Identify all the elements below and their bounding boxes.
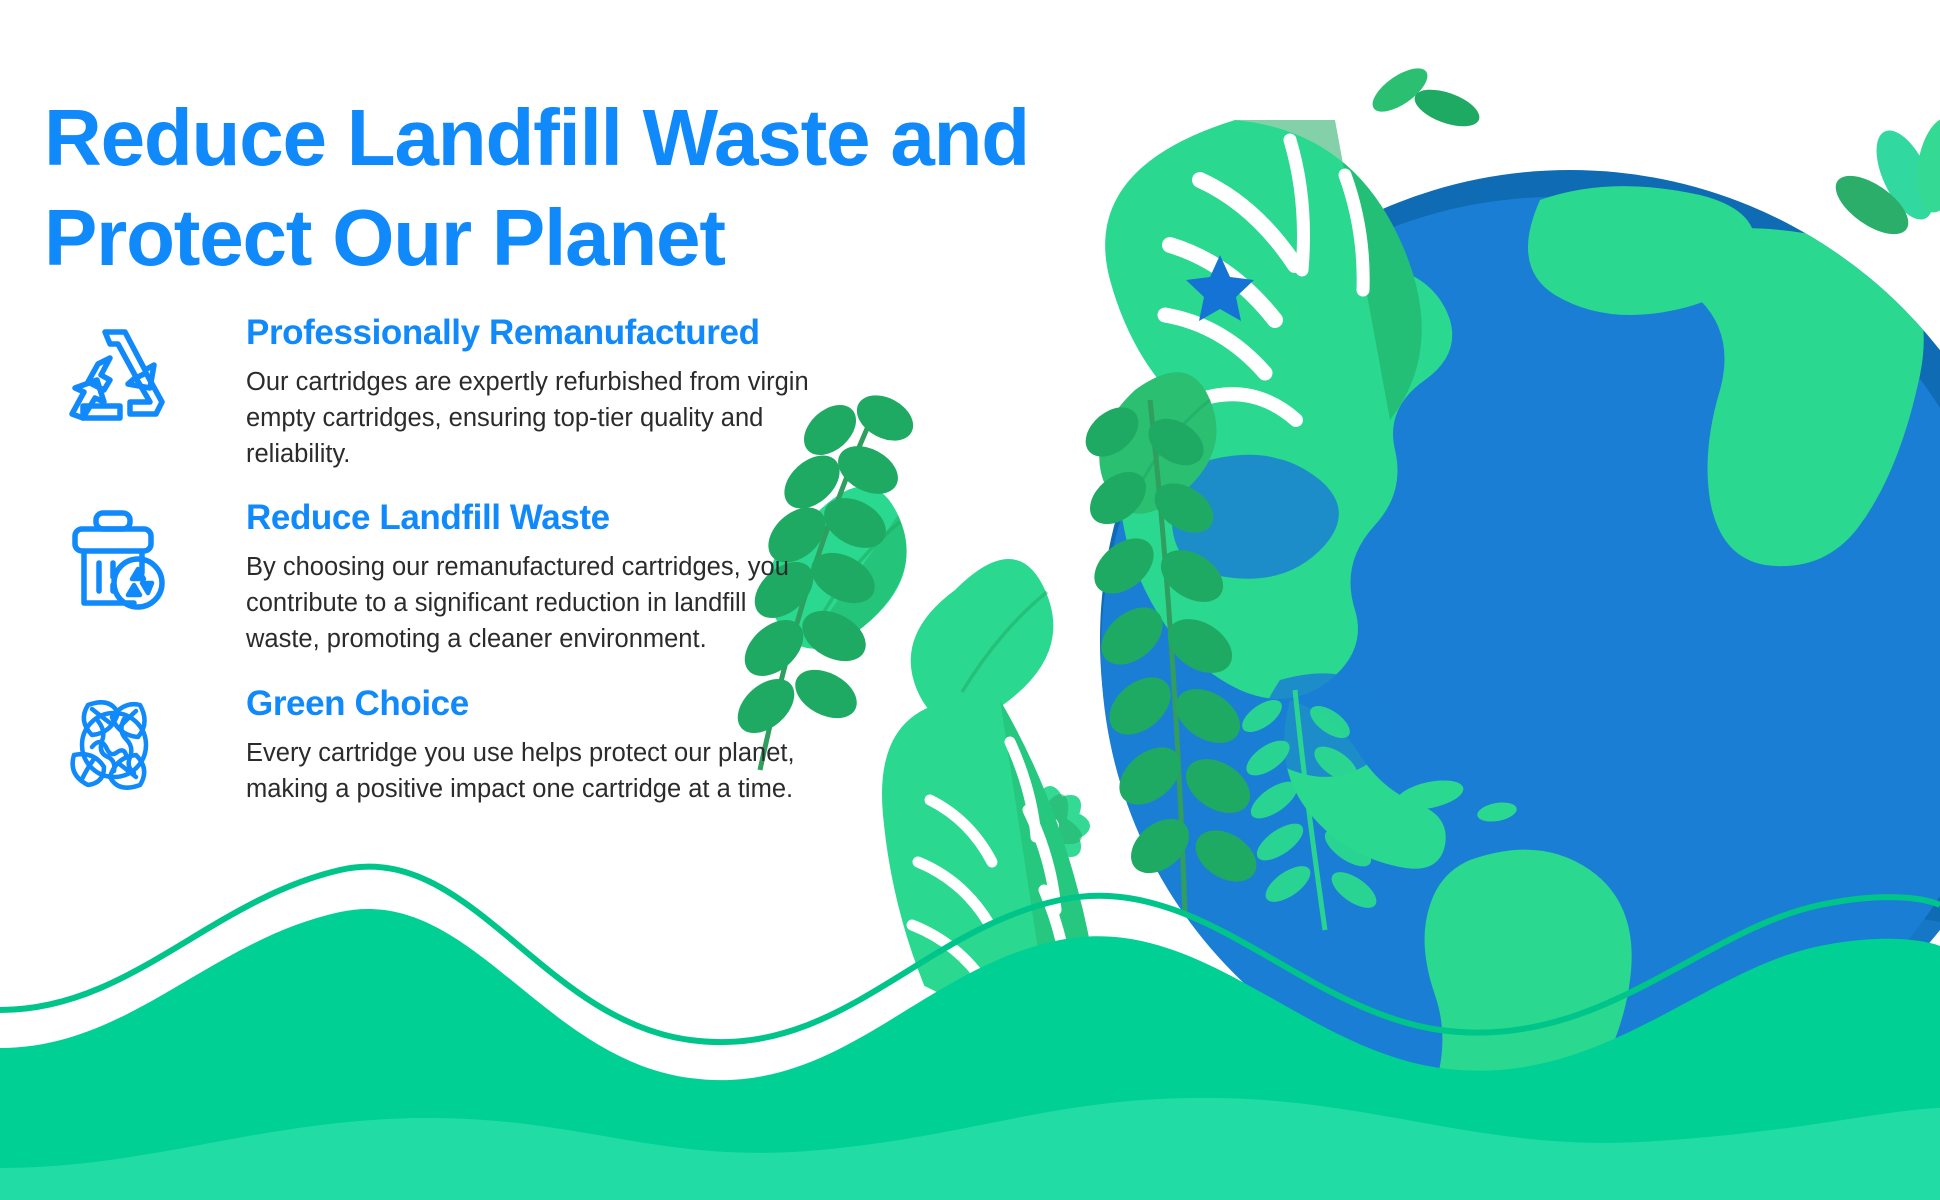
feature-title: Professionally Remanufactured [246, 312, 826, 354]
feature-body: By choosing our remanufactured cartridge… [246, 549, 826, 658]
feature-list: Professionally Remanufactured Our cartri… [46, 312, 866, 861]
fern-sprig-small [1237, 690, 1382, 930]
page-title: Reduce Landfill Waste and Protect Our Pl… [44, 88, 1044, 290]
feature-body: Our cartridges are expertly refurbished … [246, 364, 826, 473]
page-title-line-1: Reduce Landfill Waste and [44, 93, 1029, 182]
feature-title: Green Choice [246, 683, 826, 725]
star-icon [1186, 255, 1254, 321]
infographic-banner: Reduce Landfill Waste and Protect Our Pl… [0, 0, 1940, 1200]
globe-leaves-icon [58, 689, 170, 801]
feature-body: Every cartridge you use helps protect ou… [246, 735, 826, 807]
fern-sprig-right [1076, 397, 1265, 915]
trash-bin-recycle-icon [58, 503, 170, 615]
small-leaf-top-right [1366, 60, 1940, 245]
feature-item-professionally-remanufactured: Professionally Remanufactured Our cartri… [46, 312, 866, 473]
content-column: Reduce Landfill Waste and Protect Our Pl… [0, 0, 1060, 1200]
feature-title: Reduce Landfill Waste [246, 497, 826, 539]
page-title-line-2: Protect Our Planet [44, 188, 1044, 289]
floating-leaf-upper [1099, 372, 1216, 514]
monstera-leaf [1105, 120, 1422, 463]
feature-item-reduce-landfill-waste: Reduce Landfill Waste By choosing our re… [46, 497, 866, 658]
earth-globe-illustration [1100, 150, 1940, 1200]
feature-item-green-choice: Green Choice Every cartridge you use hel… [46, 683, 866, 843]
recycle-arrows-icon [58, 318, 170, 430]
